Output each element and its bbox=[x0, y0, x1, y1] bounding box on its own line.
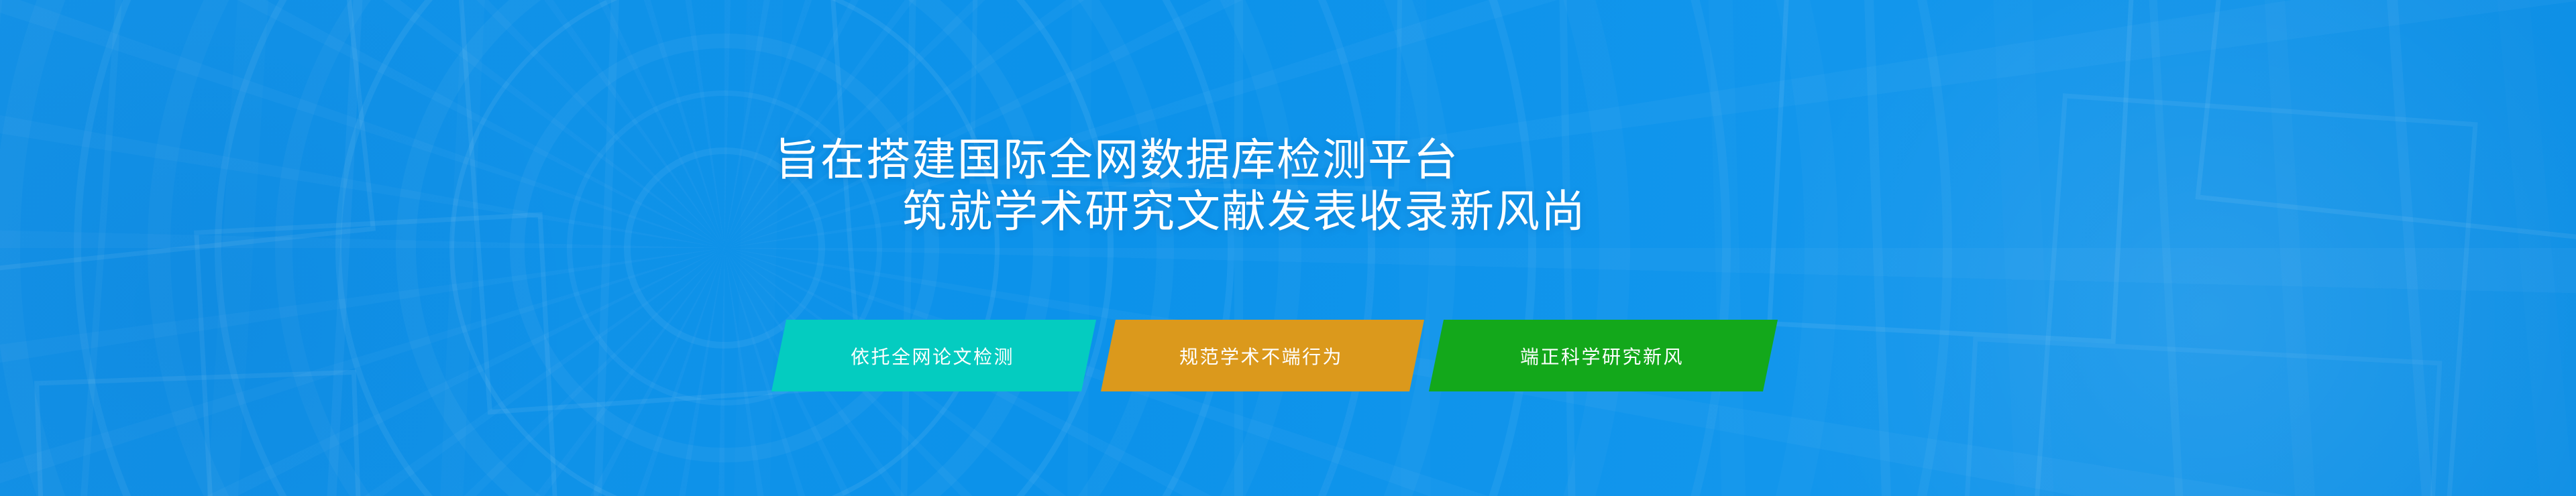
outlined-rectangles-pattern bbox=[0, 0, 2576, 496]
right-glow bbox=[1704, 0, 2576, 496]
feature-tag-1[interactable]: 依托全网论文检测 bbox=[771, 320, 1096, 391]
feature-tag-1-label: 依托全网论文检测 bbox=[851, 343, 1014, 369]
feature-tag-3[interactable]: 端正科学研究新风 bbox=[1429, 320, 1778, 391]
headline-line-1: 旨在搭建国际全网数据库检测平台 bbox=[775, 134, 1587, 186]
headline-line-2: 筑就学术研究文献发表收录新风尚 bbox=[775, 186, 1587, 237]
hero-banner: 旨在搭建国际全网数据库检测平台 筑就学术研究文献发表收录新风尚 依托全网论文检测… bbox=[0, 0, 2576, 496]
ribbon-streaks-pattern bbox=[0, 0, 2576, 496]
banner-headline: 旨在搭建国际全网数据库检测平台 筑就学术研究文献发表收录新风尚 bbox=[775, 134, 1587, 237]
radial-spokes-pattern bbox=[0, 0, 2576, 496]
feature-tag-2[interactable]: 规范学术不端行为 bbox=[1101, 320, 1424, 391]
background-decoration bbox=[0, 0, 2576, 496]
feature-tag-2-label: 规范学术不端行为 bbox=[1179, 343, 1343, 369]
feature-tag-strip: 依托全网论文检测 规范学术不端行为 端正科学研究新风 bbox=[771, 320, 1778, 391]
left-shadow bbox=[0, 0, 604, 496]
feature-tag-3-label: 端正科学研究新风 bbox=[1520, 343, 1684, 369]
